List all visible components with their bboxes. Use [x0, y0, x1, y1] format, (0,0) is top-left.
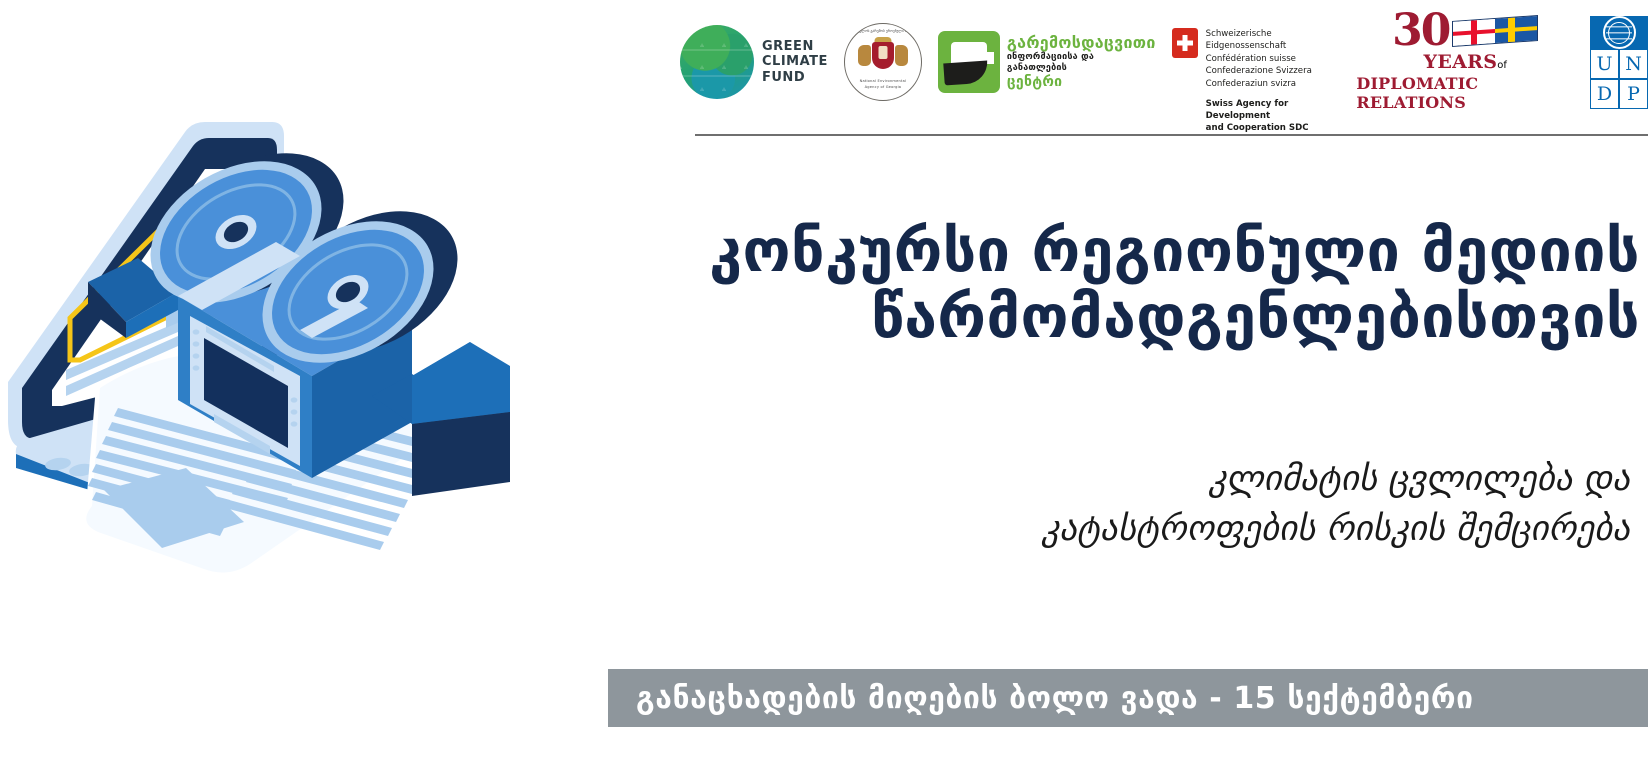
gcf-line-3: FUND: [762, 70, 828, 85]
headline-line-1: კონკურსი რეგიონული მედიის: [640, 218, 1640, 284]
sdc-bold-line-2: and Cooperation SDC: [1206, 122, 1341, 134]
sdc-wordmark: Schweizerische Eidgenossenschaft Confédé…: [1206, 28, 1341, 134]
deadline-text: განაცხადების მიღების ბოლო ვადა - 15 სექტ…: [608, 681, 1474, 716]
undp-letter-grid: U N D P: [1590, 49, 1648, 109]
emblem-caption: National Environmental Agency of Georgia: [845, 79, 921, 90]
undp-letter-p: P: [1619, 79, 1648, 109]
undp-letter-d: D: [1590, 79, 1619, 109]
gcf-line-1: GREEN: [762, 39, 828, 54]
swiss-flag-icon: [1172, 28, 1198, 58]
years-number: 30: [1392, 12, 1449, 49]
logo-green-climate-fund: GREEN CLIMATE FUND: [680, 16, 828, 108]
envc-wordmark: გარემოსდაცვითი ინფორმაციისა და განათლები…: [1007, 33, 1156, 92]
sdc-line-2: Confédération suisse: [1206, 53, 1341, 65]
green-climate-fund-wordmark: GREEN CLIMATE FUND: [762, 39, 828, 85]
subtitle-line-1: კლიმატის ცვლილება და: [630, 455, 1630, 505]
sdc-bold-line-1: Swiss Agency for Development: [1206, 98, 1341, 122]
gcf-line-2: CLIMATE: [762, 54, 828, 69]
envc-leaf-mark-icon: [938, 31, 1000, 93]
sdc-line-3: Confederazione Svizzera: [1206, 65, 1341, 77]
un-emblem-icon: [1590, 16, 1648, 49]
partner-logo-row: GREEN CLIMATE FUND საქართველოს გარემოს ე…: [680, 14, 1648, 110]
logo-swiss-agency-sdc: Schweizerische Eidgenossenschaft Confédé…: [1172, 16, 1341, 108]
green-climate-fund-globe-icon: [680, 25, 754, 99]
header-divider: [695, 134, 1648, 136]
sdc-line-4: Confederaziun svizra: [1206, 78, 1341, 90]
logo-environmental-info-education-centre: გარემოსდაცვითი ინფორმაციისა და განათლები…: [938, 16, 1156, 108]
envc-line-3: ცენტრი: [1007, 74, 1156, 91]
logo-national-environmental-agency: საქართველოს გარემოს ეროვნული სააგენტო Na…: [844, 16, 922, 108]
poster-canvas: GREEN CLIMATE FUND საქართველოს გარემოს ე…: [0, 0, 1648, 768]
undp-letter-u: U: [1590, 49, 1619, 79]
page-subtitle: კლიმატის ცვლილება და კატასტროფების რისკი…: [630, 455, 1630, 554]
years-of-label: of: [1497, 60, 1507, 71]
diplomatic-relations-label: DIPLOMATIC RELATIONS: [1356, 74, 1574, 112]
envc-line-2: ინფორმაციისა და განათლების: [1007, 52, 1156, 74]
georgia-flag-icon: [1453, 19, 1495, 46]
envc-line-1: გარემოსდაცვითი: [1007, 33, 1156, 53]
emblem-lion-left-icon: [858, 45, 871, 66]
page-title: კონკურსი რეგიონული მედიის წარმომადგენლებ…: [640, 218, 1640, 350]
sdc-line-1: Schweizerische Eidgenossenschaft: [1206, 28, 1341, 53]
logo-30-years-diplomatic-relations: 30 YEARSof DIPLOMATIC RELATIONS: [1356, 16, 1574, 108]
undp-letter-n: N: [1619, 49, 1648, 79]
georgia-emblem-icon: საქართველოს გარემოს ეროვნული სააგენტო Na…: [844, 23, 922, 101]
emblem-shield-icon: [872, 42, 894, 69]
headline-line-2: წარმომადგენლებისთვის: [640, 284, 1640, 350]
emblem-caption-line-2: Agency of Georgia: [845, 85, 921, 90]
georgia-sweden-flags-icon: [1452, 15, 1538, 47]
logo-undp: U N D P: [1590, 16, 1648, 108]
emblem-lion-right-icon: [895, 45, 908, 66]
subtitle-line-2: კატასტროფების რისკის შემცირება: [630, 505, 1630, 555]
emblem-arc-text: საქართველოს გარემოს ეროვნული სააგენტო: [845, 29, 921, 33]
deadline-banner: განაცხადების მიღების ბოლო ვადა - 15 სექტ…: [608, 669, 1648, 727]
years-label: YEARS: [1423, 51, 1497, 73]
media-illustration: [0, 70, 700, 640]
sweden-flag-icon: [1495, 16, 1537, 43]
